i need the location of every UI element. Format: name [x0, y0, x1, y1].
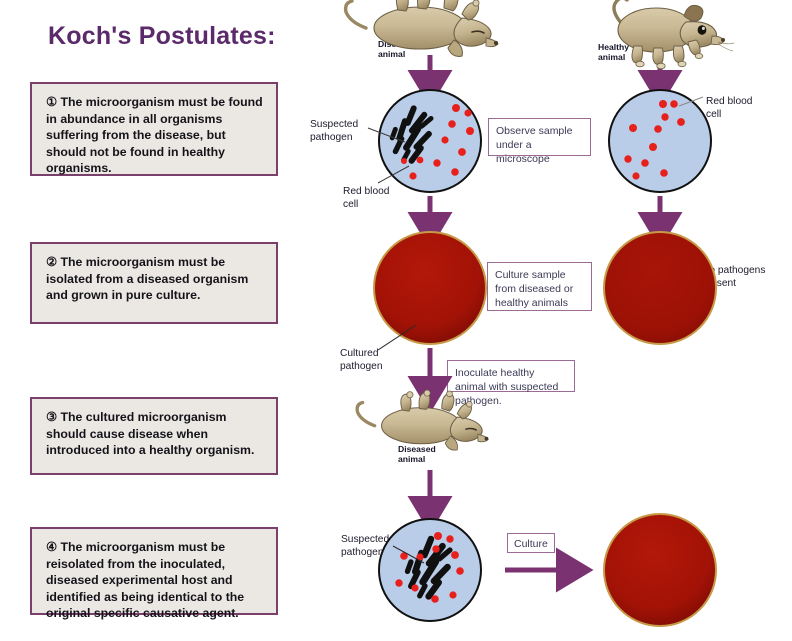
- diagram-canvas: Koch's Postulates: ① The microorganism m…: [0, 0, 792, 641]
- leader-line-top-right: [679, 97, 703, 106]
- label-suspected-pathogen-bottom: Suspected pathogen: [341, 534, 389, 559]
- label-red-blood-cell-left: Red blood cell: [343, 186, 389, 211]
- leader-line-suspected-bottom: [393, 546, 424, 563]
- postulate-number-2: ②: [46, 255, 60, 269]
- postulate-number-3: ③: [46, 410, 60, 424]
- agar-plate-cultured: [374, 232, 486, 344]
- postulate-text-1: The microorganism must be found in abund…: [46, 95, 263, 175]
- agar-plate-reisolated: [604, 514, 716, 626]
- red-blood-cells: [401, 104, 474, 180]
- callout-culture-sample: Culture sample from diseased or healthy …: [487, 262, 592, 311]
- label-healthy-animal: Healthy animal: [598, 42, 629, 63]
- page-title: Koch's Postulates:: [48, 22, 276, 51]
- callout-culture: Culture: [507, 533, 555, 553]
- leader-lines-top-left: [368, 128, 409, 183]
- postulate-box-4: ④ The microorganism must be reisolated f…: [30, 527, 278, 615]
- red-blood-cells: [395, 532, 464, 603]
- postulate-number-4: ④: [46, 540, 60, 554]
- diseased-mouse-top-icon: [346, 0, 499, 56]
- blood-sample-diseased-bottom: [379, 519, 481, 621]
- label-diseased-animal-top: Diseased animal: [378, 39, 416, 60]
- postulate-box-3: ③ The cultured microorganism should caus…: [30, 397, 278, 475]
- postulate-text-2: The microorganism must be isolated from …: [46, 255, 248, 302]
- agar-plate-no-pathogens: [604, 232, 716, 344]
- callout-inoculate: Inoculate healthy animal with suspected …: [447, 360, 575, 392]
- postulate-number-1: ①: [46, 95, 60, 109]
- healthy-mouse-icon: [614, 0, 734, 69]
- red-blood-cells: [624, 100, 685, 180]
- postulate-box-1: ① The microorganism must be found in abu…: [30, 82, 278, 176]
- blood-sample-diseased-top: [379, 90, 481, 192]
- blood-sample-healthy: [609, 90, 711, 192]
- callout-observe-sample: Observe sample under a microscope: [488, 118, 591, 156]
- label-no-pathogens: No pathogens present: [702, 265, 765, 290]
- label-cultured-pathogen: Cultured pathogen: [340, 348, 383, 373]
- postulate-box-2: ② The microorganism must be isolated fro…: [30, 242, 278, 324]
- postulate-text-3: The cultured microorganism should cause …: [46, 410, 254, 457]
- label-diseased-animal-bottom: Diseased animal: [398, 444, 436, 465]
- label-suspected-pathogen-top: Suspected pathogen: [310, 119, 358, 144]
- label-red-blood-cell-right: Red blood cell: [706, 96, 752, 121]
- postulate-text-4: The microorganism must be reisolated fro…: [46, 540, 244, 620]
- leader-line-cultured-pathogen: [378, 325, 416, 350]
